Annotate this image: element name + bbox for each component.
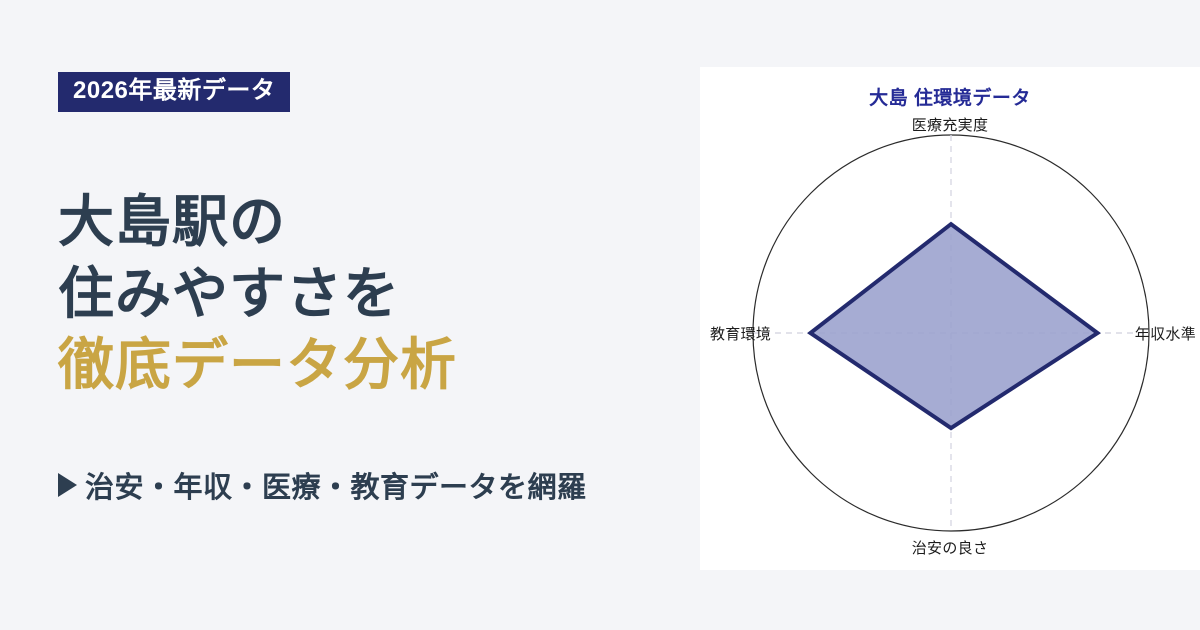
radar-axis-label-income: 年収水準 xyxy=(1135,323,1196,344)
headline-line-3: 徹底データ分析 xyxy=(58,329,708,401)
radar-axis-label-medical: 医療充実度 xyxy=(912,114,989,135)
radar-data-polygon xyxy=(810,224,1097,428)
headline-line-2: 住みやすさを xyxy=(58,258,708,330)
ogp-banner: 2026年最新データ 大島駅の 住みやすさを 徹底データ分析 治安・年収・医療・… xyxy=(0,0,1200,630)
page-title: 大島駅の 住みやすさを 徹底データ分析 xyxy=(58,186,708,401)
headline-line-1: 大島駅の xyxy=(58,186,708,258)
radar-chart-card: 大島 住環境データ 医療充実度 年収水準 治安の良さ 教育環境 xyxy=(700,67,1200,570)
radar-chart: 医療充実度 年収水準 治安の良さ 教育環境 xyxy=(700,67,1200,570)
subheadline-label: 治安・年収・医療・教育データを網羅 xyxy=(85,464,587,506)
headline-column: 2026年最新データ 大島駅の 住みやすさを 徹底データ分析 治安・年収・医療・… xyxy=(58,0,718,630)
triangle-right-icon xyxy=(58,473,77,497)
radar-chart-svg xyxy=(700,67,1200,570)
radar-axis-label-education: 教育環境 xyxy=(710,323,771,344)
subheadline: 治安・年収・医療・教育データを網羅 xyxy=(58,464,587,506)
date-badge: 2026年最新データ xyxy=(58,72,290,112)
radar-axis-label-safety: 治安の良さ xyxy=(912,537,989,558)
